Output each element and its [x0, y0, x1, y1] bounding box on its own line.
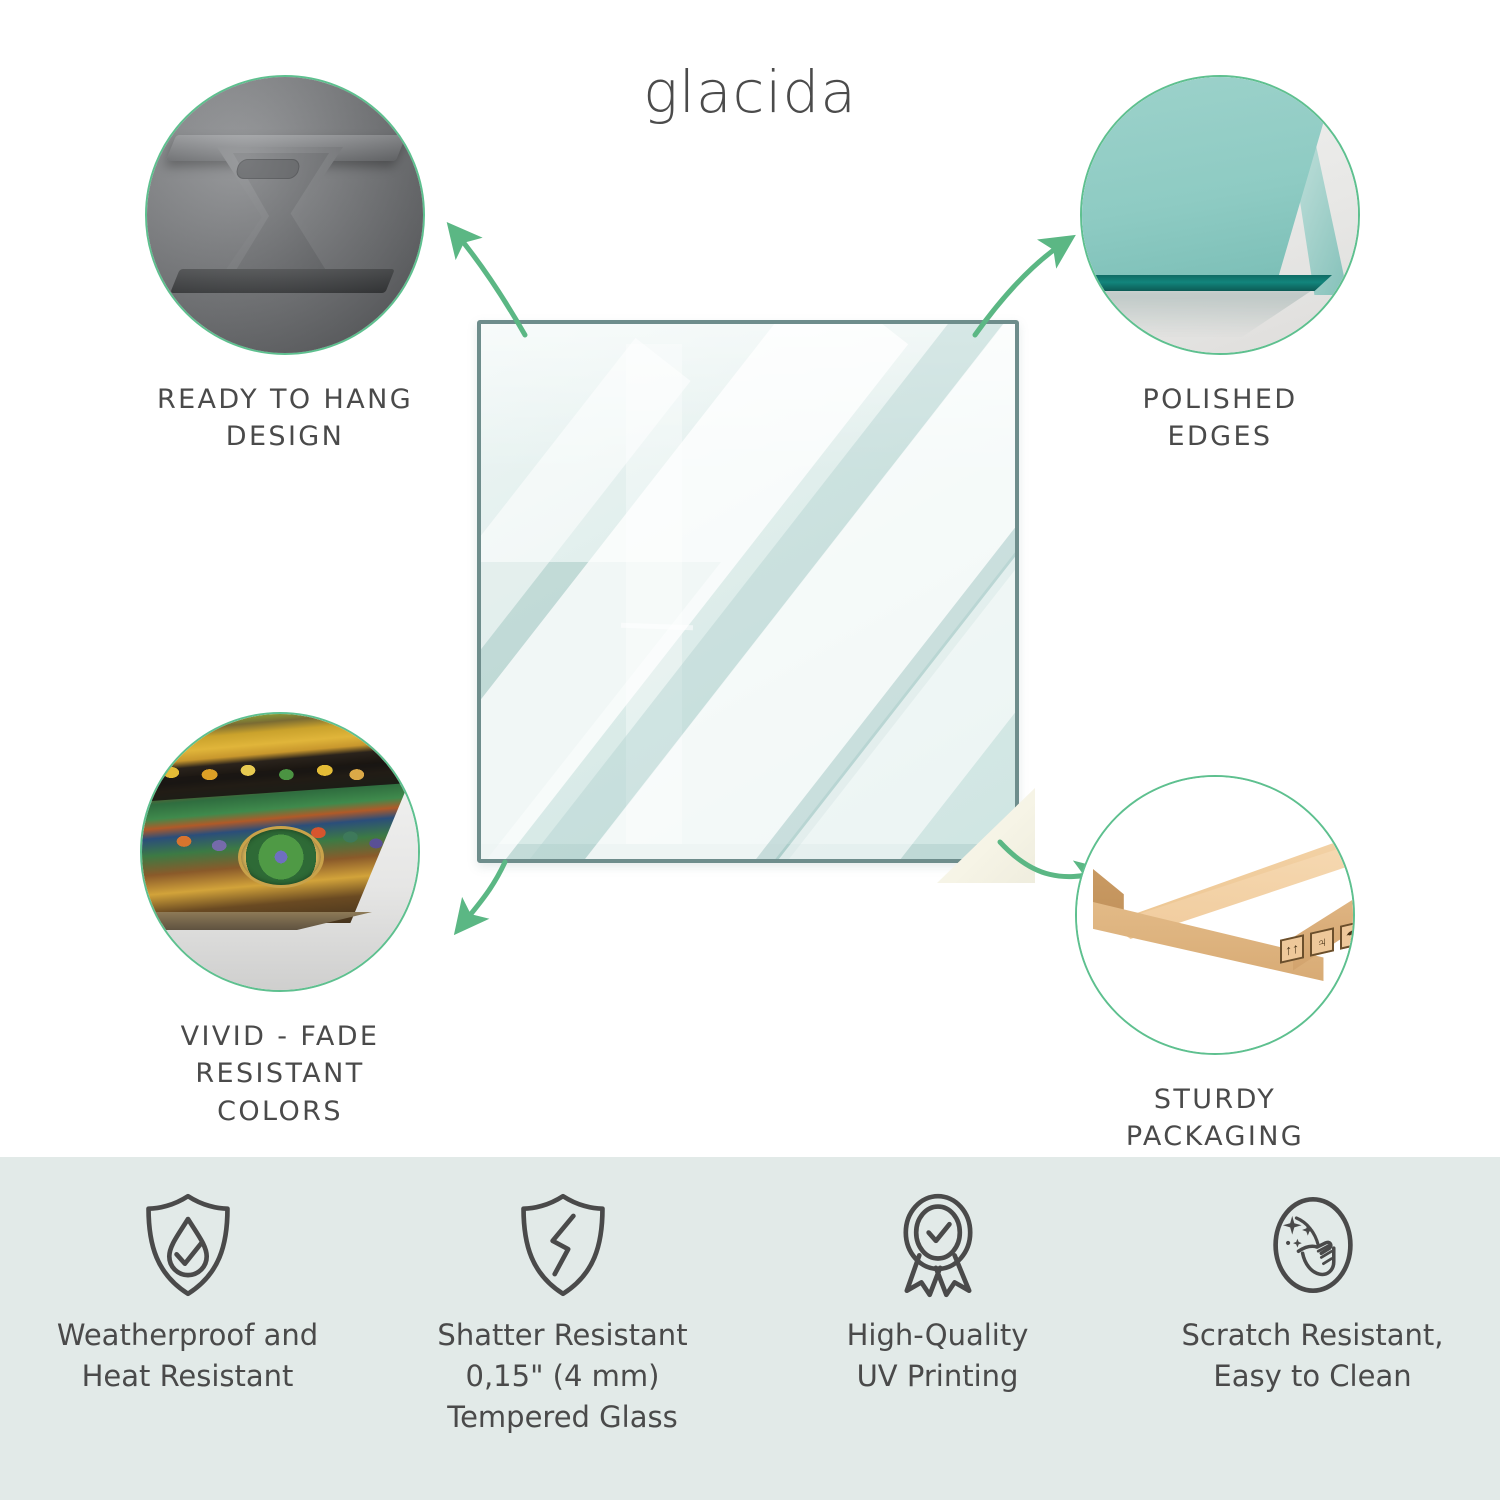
benefit-label-weatherproof: Weatherproof and Heat Resistant — [57, 1315, 318, 1397]
benefit-shatter-resistant: Shatter Resistant 0,15" (4 mm) Tempered … — [375, 1157, 750, 1500]
feature-image-ready-to-hang — [145, 75, 425, 355]
fragile-glass-symbol: ♃ — [1310, 927, 1334, 957]
feature-image-polished-edges — [1080, 75, 1360, 355]
feature-ready-to-hang: READY TO HANG DESIGN — [115, 75, 455, 456]
benefit-label-scratch-resistant: Scratch Resistant, Easy to Clean — [1181, 1315, 1443, 1397]
feature-label-ready-to-hang: READY TO HANG DESIGN — [115, 381, 455, 456]
feature-vivid-colors: VIVID - FADE RESISTANT COLORS — [110, 712, 450, 1130]
sparkle-wiping-hand-icon — [1261, 1191, 1365, 1299]
carton-box-icon: ↑↑ ♃ ☂ — [1077, 777, 1353, 1053]
stained-glass-icon — [142, 714, 418, 990]
benefit-uv-printing: High-Quality UV Printing — [750, 1157, 1125, 1500]
shield-droplet-check-icon — [136, 1191, 240, 1299]
glass-edge-icon — [1082, 77, 1358, 353]
award-ribbon-check-icon — [886, 1191, 990, 1299]
keep-dry-umbrella-symbol: ☂ — [1340, 920, 1355, 950]
feature-label-sturdy-packaging: STURDY PACKAGING — [1045, 1081, 1385, 1156]
feature-label-polished-edges: POLISHED EDGES — [1050, 381, 1390, 456]
product-glass-panel — [477, 320, 1019, 863]
feature-label-vivid-colors: VIVID - FADE RESISTANT COLORS — [110, 1018, 450, 1130]
arrow-to-vivid-colors — [462, 862, 505, 925]
benefit-label-shatter-resistant: Shatter Resistant 0,15" (4 mm) Tempered … — [437, 1315, 687, 1439]
benefit-weatherproof: Weatherproof and Heat Resistant — [0, 1157, 375, 1500]
feature-image-sturdy-packaging: ↑↑ ♃ ☂ — [1075, 775, 1355, 1055]
shield-lightning-icon — [511, 1191, 615, 1299]
feature-image-vivid-colors — [140, 712, 420, 992]
feature-polished-edges: POLISHED EDGES — [1050, 75, 1390, 456]
bracket-icon — [147, 77, 423, 353]
benefit-label-uv-printing: High-Quality UV Printing — [847, 1315, 1029, 1397]
benefit-scratch-resistant: Scratch Resistant, Easy to Clean — [1125, 1157, 1500, 1500]
benefits-band: Weatherproof and Heat Resistant Shatter … — [0, 1157, 1500, 1500]
feature-sturdy-packaging: ↑↑ ♃ ☂ STURDY PACKAGING — [1045, 775, 1385, 1156]
